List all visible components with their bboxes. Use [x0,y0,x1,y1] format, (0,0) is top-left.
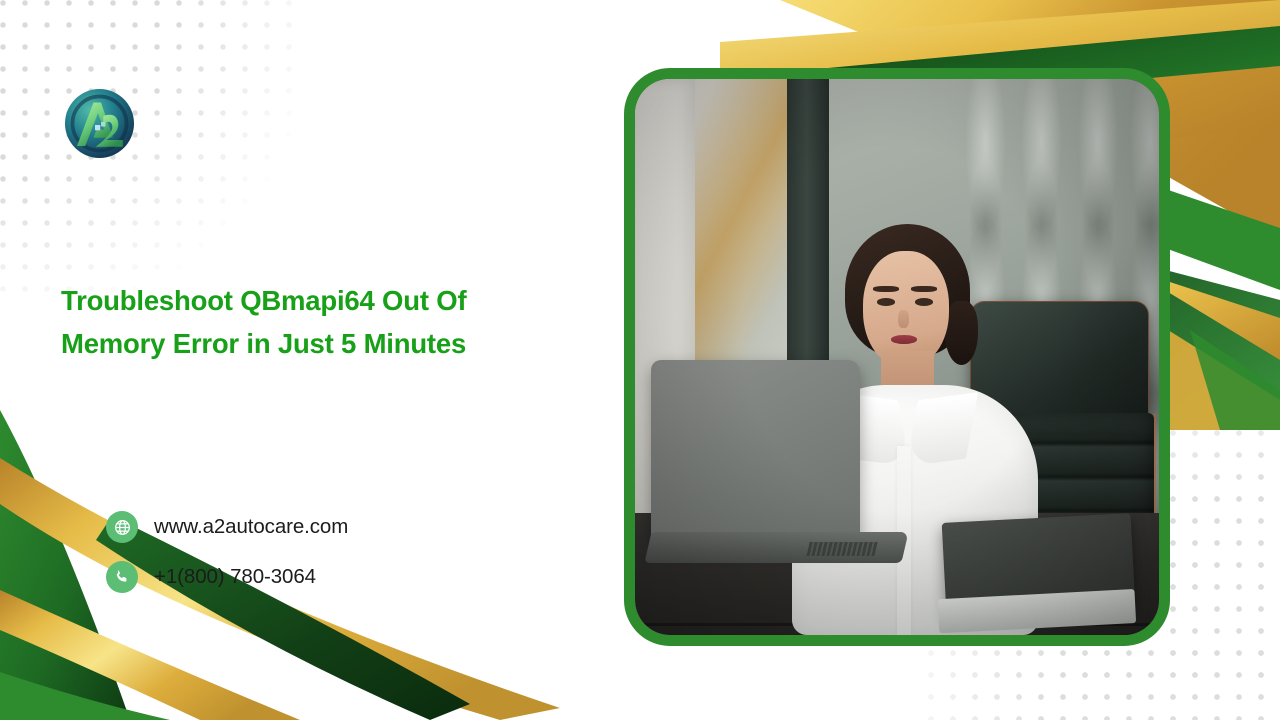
contact-website-row[interactable]: www.a2autocare.com [106,506,348,548]
banner-canvas: Troubleshoot QBmapi64 Out Of Memory Erro… [0,0,1280,720]
headline-line-1: Troubleshoot QBmapi64 Out Of [61,285,466,316]
photo-vignette [635,79,1159,635]
contact-phone-row[interactable]: +1(800) 780-3064 [106,556,348,598]
a2-autocare-logo[interactable] [62,86,137,161]
halftone-dots-top-left [0,0,300,300]
phone-number[interactable]: +1(800) 780-3064 [154,565,316,589]
globe-icon [106,511,138,543]
page-title: Troubleshoot QBmapi64 Out Of Memory Erro… [61,279,561,366]
hero-image [635,79,1159,635]
phone-icon [106,561,138,593]
contact-info: www.a2autocare.com +1(800) 780-3064 [106,506,348,606]
hero-image-frame [624,68,1170,646]
headline-line-2: Memory Error in Just 5 Minutes [61,328,466,359]
logo-icon [62,86,137,161]
website-url[interactable]: www.a2autocare.com [154,515,348,539]
